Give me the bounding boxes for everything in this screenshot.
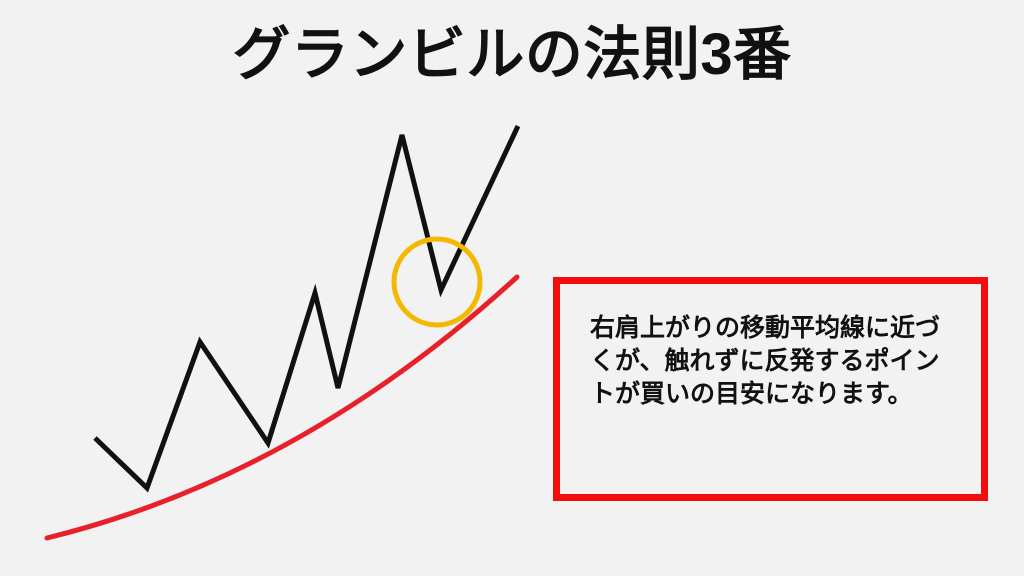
callout-box: 右肩上がりの移動平均線に近づくが、触れずに反発するポイントが買いの目安になります… <box>553 277 988 501</box>
slide-canvas: グランビルの法則3番 右肩上がりの移動平均線に近づくが、触れずに反発するポイント… <box>0 0 1024 576</box>
callout-text: 右肩上がりの移動平均線に近づくが、触れずに反発するポイントが買いの目安になります… <box>590 312 960 411</box>
moving-average-line <box>47 277 517 538</box>
